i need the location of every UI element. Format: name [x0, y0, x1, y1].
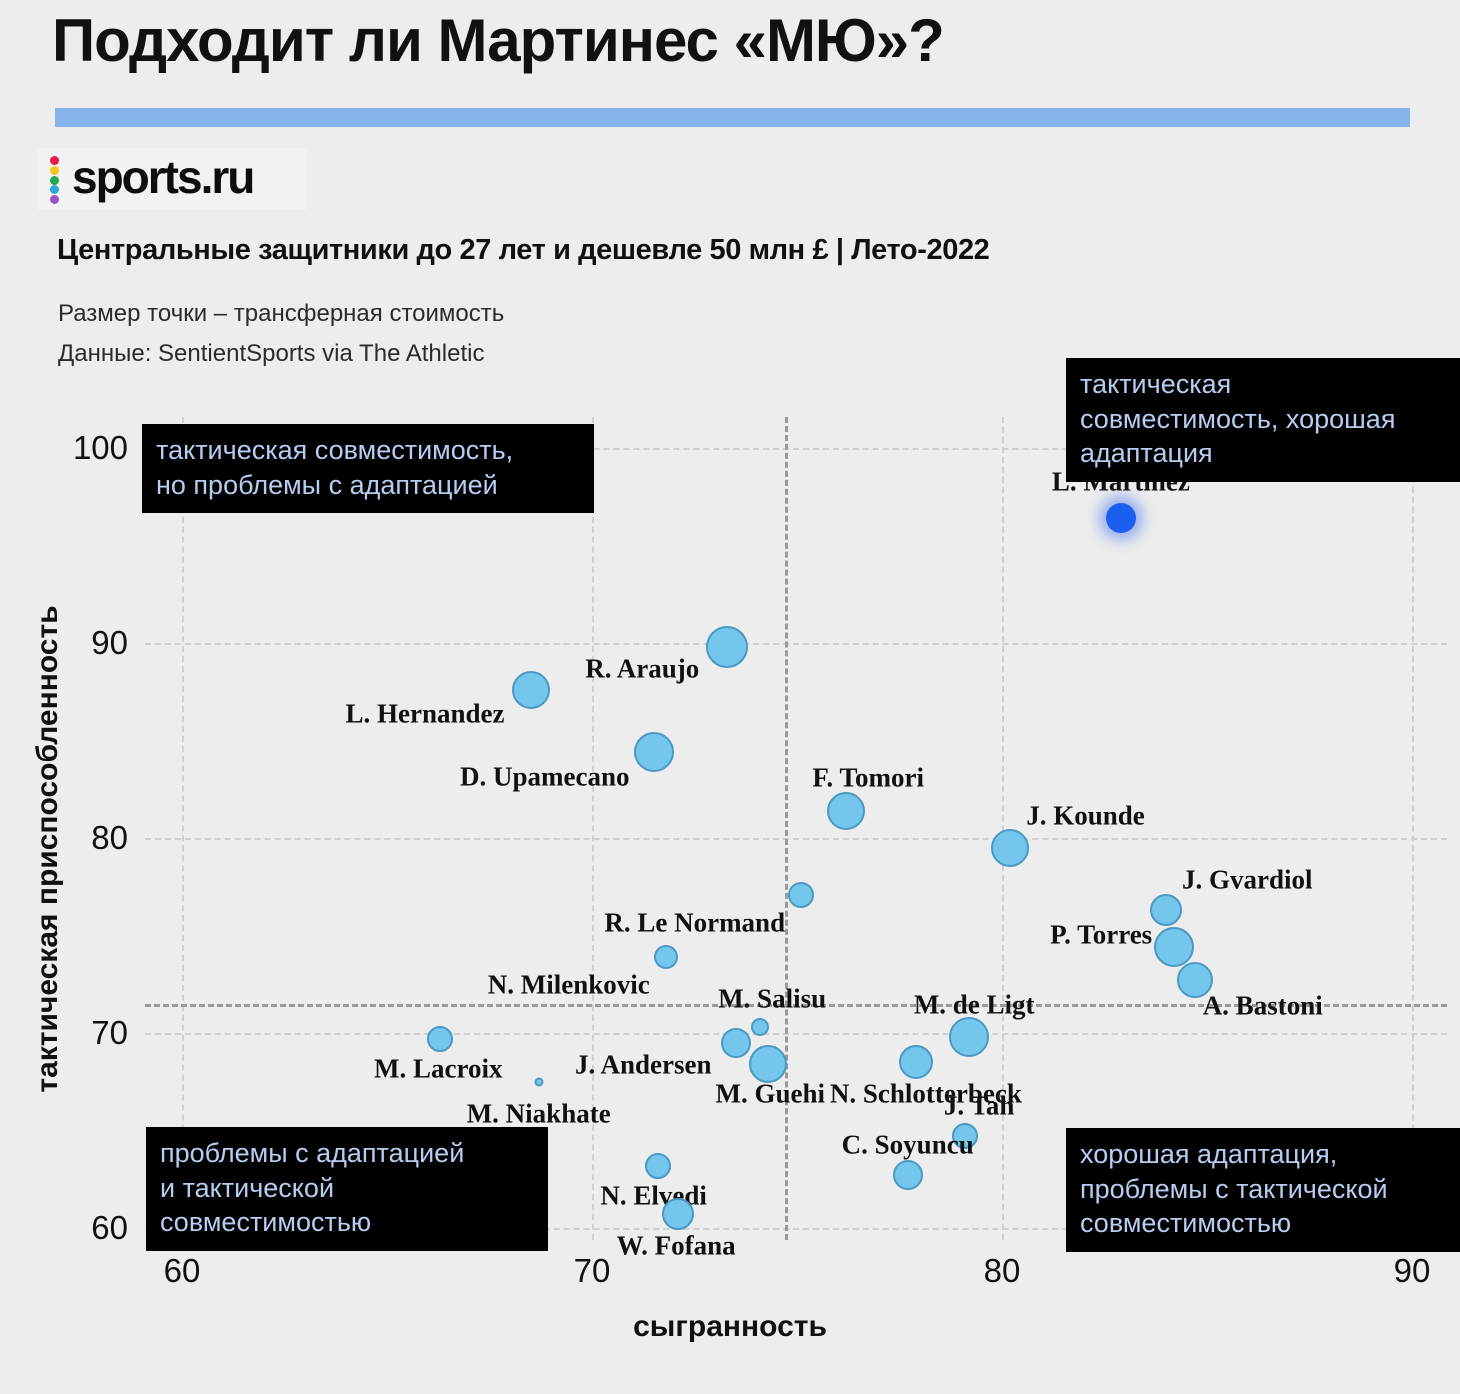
data-point-label: M. Niakhate — [467, 1098, 611, 1129]
data-point-label: M. de Ligt — [914, 989, 1035, 1020]
data-point[interactable] — [991, 829, 1029, 867]
data-point[interactable] — [751, 1018, 769, 1036]
data-point-label: J. Tah — [944, 1091, 1015, 1122]
quadrant-annotation-top-left: тактическая совместимость, но проблемы с… — [142, 424, 594, 513]
y-axis-tick-80: 80 — [0, 819, 128, 857]
x-gridline-60 — [182, 417, 184, 1240]
data-point[interactable] — [427, 1026, 453, 1052]
data-point[interactable] — [899, 1045, 933, 1079]
data-point-label: W. Fofana — [617, 1231, 736, 1262]
x-axis-tick-60: 60 — [164, 1252, 201, 1290]
y-gridline-70 — [145, 1033, 1447, 1035]
data-point-label: M. Salisu — [718, 984, 826, 1015]
data-point-label: C. Soyuncu — [842, 1130, 974, 1161]
y-axis-tick-60: 60 — [0, 1209, 128, 1247]
data-point[interactable] — [721, 1028, 751, 1058]
x-axis-label: сыгранность — [0, 1310, 1460, 1344]
x-gridline-90 — [1412, 417, 1414, 1240]
data-point[interactable] — [512, 671, 550, 709]
x-axis-tick-80: 80 — [984, 1252, 1021, 1290]
data-point[interactable] — [706, 626, 748, 668]
data-point[interactable] — [949, 1017, 989, 1057]
data-point-label: M. Guehi — [716, 1079, 826, 1110]
quadrant-divider-vertical — [785, 417, 788, 1240]
data-point-label: D. Upamecano — [460, 762, 630, 793]
data-point[interactable] — [654, 945, 678, 969]
data-point-label: J. Kounde — [1026, 800, 1145, 831]
data-point-label: N. Milenkovic — [488, 969, 650, 1000]
x-axis-tick-70: 70 — [574, 1252, 611, 1290]
data-point-label: J. Andersen — [575, 1049, 712, 1080]
data-point[interactable] — [893, 1160, 923, 1190]
y-axis-tick-90: 90 — [0, 624, 128, 662]
y-axis-tick-100: 100 — [0, 429, 128, 467]
x-axis-tick-90: 90 — [1394, 1252, 1431, 1290]
data-point-label: R. Araujo — [585, 653, 699, 684]
data-point-label: P. Torres — [1050, 920, 1152, 951]
data-point-label: M. Lacroix — [374, 1053, 502, 1084]
data-point[interactable] — [645, 1153, 671, 1179]
data-point-label: L. Hernandez — [346, 698, 505, 729]
data-point[interactable] — [534, 1077, 543, 1086]
y-gridline-80 — [145, 838, 1447, 840]
data-point-label: R. Le Normand — [604, 907, 785, 938]
data-point[interactable] — [634, 732, 674, 772]
data-point[interactable] — [749, 1045, 787, 1083]
data-point[interactable] — [788, 882, 814, 908]
data-point-label: J. Gvardiol — [1182, 865, 1313, 896]
data-point-label: A. Bastoni — [1203, 991, 1323, 1022]
data-point-label: F. Tomori — [812, 762, 924, 793]
data-point[interactable] — [1150, 894, 1182, 926]
quadrant-annotation-bottom-right: хорошая адаптация, проблемы с тактическо… — [1066, 1128, 1460, 1252]
data-point[interactable] — [662, 1198, 694, 1230]
y-gridline-90 — [145, 643, 1447, 645]
data-point[interactable] — [1154, 927, 1194, 967]
quadrant-annotation-top-right: тактическая совместимость, хорошая адапт… — [1066, 358, 1460, 482]
data-point[interactable] — [1106, 503, 1136, 533]
scatter-chart: тактическая приспособленность сыгранност… — [0, 0, 1460, 1394]
quadrant-annotation-bottom-left: проблемы с адаптацией и тактической совм… — [146, 1127, 548, 1251]
y-axis-tick-70: 70 — [0, 1014, 128, 1052]
data-point[interactable] — [827, 792, 865, 830]
